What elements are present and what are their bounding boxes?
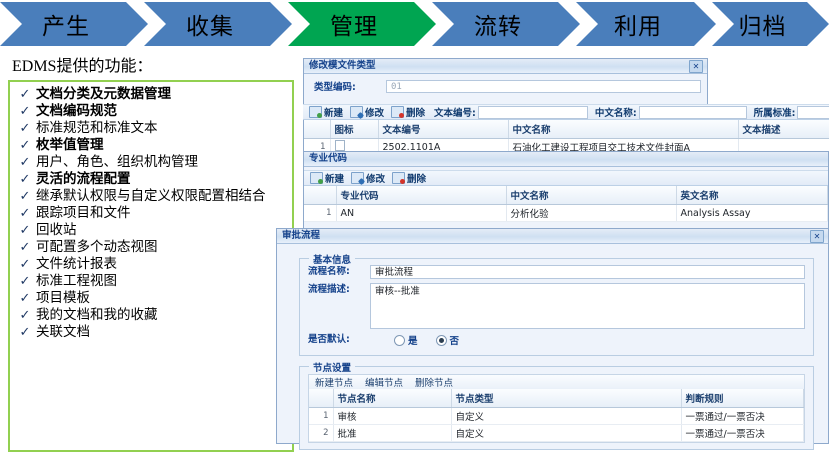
new-button[interactable]: 新建 <box>308 171 346 185</box>
col-en-name[interactable]: 英文名称 <box>676 186 828 205</box>
check-icon: ✓ <box>14 240 36 255</box>
check-icon: ✓ <box>14 189 36 204</box>
filter-cn-name-label: 中文名称: <box>595 105 637 119</box>
list-item: ✓ 关联文档 <box>14 325 288 340</box>
chevron-step-3[interactable]: 管理 <box>288 2 436 46</box>
cell-node-name: 批准 <box>333 425 451 442</box>
chevron-step-6[interactable]: 归档 <box>712 2 829 46</box>
delete-button[interactable]: 删除 <box>389 105 427 119</box>
list-item: ✓ 继承默认权限与自定义权限配置相结合 <box>14 189 288 204</box>
list-item-label: 可配置多个动态视图 <box>36 240 158 255</box>
type-code-row: 类型编码: 01 <box>304 74 707 97</box>
basic-info-fieldset: 基本信息 流程名称: 审批流程 流程描述: 审核--批准 是否默认: 是 <box>299 258 814 356</box>
list-item-label: 标准工程视图 <box>36 274 117 289</box>
list-item-label: 用户、角色、组织机构管理 <box>36 155 198 170</box>
close-icon[interactable]: ✕ <box>810 230 824 243</box>
edit-icon <box>350 106 363 118</box>
check-icon: ✓ <box>14 223 36 238</box>
list-item: ✓ 文件统计报表 <box>14 257 288 272</box>
chevron-step-2[interactable]: 收集 <box>144 2 292 46</box>
node-settings-fieldset: 节点设置 新建节点 编辑节点 删除节点 节点名称 节点类型 判断规则 <box>299 366 814 450</box>
delete-button-label: 删除 <box>406 105 425 119</box>
chevron-step-6-label: 归档 <box>739 7 787 41</box>
node-toolbar: 新建节点 编辑节点 删除节点 <box>308 374 805 389</box>
cell-node-rule: 一票通过/一票否决 <box>681 408 804 425</box>
features-panel: EDMS提供的功能： ✓ 文档分类及元数据管理 ✓ 文档编码规范 ✓ 标准规范和… <box>8 52 294 452</box>
major-code-toolbar: 新建 修改 删除 <box>304 170 828 186</box>
table-row[interactable]: 2 批准 自定义 一票通过/一票否决 <box>309 425 804 442</box>
check-icon: ✓ <box>14 274 36 289</box>
dialog-major-code-body: 新建 修改 删除 专业代码 中文名称 英文名称 <box>304 170 828 222</box>
node-settings-legend: 节点设置 <box>309 360 355 374</box>
list-item-label: 回收站 <box>36 223 77 238</box>
dialog-approval-title: 审批流程 <box>277 229 320 243</box>
type-code-input[interactable]: 01 <box>386 80 701 93</box>
node-grid: 节点名称 节点类型 判断规则 1 审核 自定义 一票通过/一票否决 2 <box>308 389 805 443</box>
chevron-step-1-label: 产生 <box>42 7 90 41</box>
flow-desc-textarea[interactable]: 审核--批准 <box>370 283 805 329</box>
node-table: 节点名称 节点类型 判断规则 1 审核 自定义 一票通过/一票否决 2 <box>309 389 804 442</box>
check-icon: ✓ <box>14 325 36 340</box>
close-icon[interactable]: ✕ <box>689 60 703 73</box>
radio-no-dot <box>436 335 447 346</box>
col-desc[interactable]: 文本描述 <box>738 120 829 139</box>
list-item: ✓ 标准规范和标准文本 <box>14 121 288 136</box>
edit-button[interactable]: 修改 <box>349 171 387 185</box>
col-rownum[interactable] <box>304 120 330 139</box>
dialog-approval-body: 基本信息 流程名称: 审批流程 流程描述: 审核--批准 是否默认: 是 <box>277 244 828 450</box>
col-major-code[interactable]: 专业代码 <box>336 186 506 205</box>
filter-cn-name-input[interactable] <box>639 106 747 119</box>
new-icon <box>310 172 323 184</box>
flow-name-label: 流程名称: <box>308 265 370 279</box>
filter-standard: 所属标准: <box>754 105 829 119</box>
chevron-step-5[interactable]: 利用 <box>576 2 716 46</box>
table-row[interactable]: 1 审核 自定义 一票通过/一票否决 <box>309 408 804 425</box>
filter-doc-code-input[interactable] <box>478 106 588 119</box>
radio-no[interactable]: 否 <box>436 333 460 347</box>
radio-yes[interactable]: 是 <box>394 333 418 347</box>
cell-node-type: 自定义 <box>451 425 681 442</box>
list-item: ✓ 文档编码规范 <box>14 104 288 119</box>
row-number: 1 <box>309 408 333 425</box>
table-header-row: 图标 文本编号 中文名称 文本描述 <box>304 120 829 139</box>
check-icon: ✓ <box>14 257 36 272</box>
list-item-label: 文件统计报表 <box>36 257 117 272</box>
new-button[interactable]: 新建 <box>307 105 345 119</box>
list-item: ✓ 枚举值管理 <box>14 138 288 153</box>
col-node-rule[interactable]: 判断规则 <box>681 389 804 408</box>
list-item: ✓ 跟踪项目和文件 <box>14 206 288 221</box>
edit-button[interactable]: 修改 <box>348 105 386 119</box>
check-icon: ✓ <box>14 308 36 323</box>
edit-button-label: 修改 <box>366 171 385 185</box>
list-item: ✓ 我的文档和我的收藏 <box>14 308 288 323</box>
features-list: ✓ 文档分类及元数据管理 ✓ 文档编码规范 ✓ 标准规范和标准文本 ✓ 枚举值管… <box>8 80 294 452</box>
col-node-name[interactable]: 节点名称 <box>333 389 451 408</box>
dialog-file-type-body: 类型编码: 01 <box>304 74 707 97</box>
list-item-label: 文档编码规范 <box>36 104 117 119</box>
dialog-file-type-titlebar[interactable]: 修改模文件类型 ✕ <box>304 59 707 74</box>
col-icon[interactable]: 图标 <box>330 120 378 139</box>
list-item: ✓ 标准工程视图 <box>14 274 288 289</box>
col-rownum[interactable] <box>304 186 336 205</box>
major-code-table: 专业代码 中文名称 英文名称 1 AN 分析化验 Analysis Assay <box>304 186 828 222</box>
chevron-step-4-label: 流转 <box>474 7 522 41</box>
list-item-label: 关联文档 <box>36 325 90 340</box>
is-default-label: 是否默认: <box>308 333 370 347</box>
col-cn-name[interactable]: 中文名称 <box>508 120 738 139</box>
delete-icon <box>391 106 404 118</box>
file-type-grid: 图标 文本编号 中文名称 文本描述 1 2502.1101A 石油化工建设工程项… <box>303 120 829 155</box>
flow-desc-row: 流程描述: 审核--批准 <box>308 283 805 329</box>
dialog-file-type-title: 修改模文件类型 <box>304 59 376 73</box>
filter-cn-name: 中文名称: <box>595 105 747 119</box>
table-header-row: 专业代码 中文名称 英文名称 <box>304 186 828 205</box>
file-type-toolbar-strip: 新建 修改 删除 文本编号: 中文名称: 所属标准: <box>303 104 829 120</box>
list-item-label: 灵活的流程配置 <box>36 172 131 187</box>
check-icon: ✓ <box>14 104 36 119</box>
filter-standard-input[interactable] <box>797 106 829 119</box>
delete-icon <box>392 172 405 184</box>
chevron-step-3-label: 管理 <box>330 7 378 41</box>
check-icon: ✓ <box>14 155 36 170</box>
check-icon: ✓ <box>14 138 36 153</box>
dialog-major-code-titlebar[interactable]: 专业代码 <box>304 152 828 167</box>
row-number: 1 <box>304 205 336 222</box>
check-icon: ✓ <box>14 121 36 136</box>
list-item-label: 跟踪项目和文件 <box>36 206 131 221</box>
cell-en-name: Analysis Assay <box>676 205 828 222</box>
list-item: ✓ 回收站 <box>14 223 288 238</box>
process-chevron-banner: 产生 收集 管理 流转 利用 归档 <box>0 2 829 46</box>
radio-yes-dot <box>394 335 405 346</box>
new-button-label: 新建 <box>324 105 343 119</box>
col-cn-name[interactable]: 中文名称 <box>506 186 676 205</box>
new-button-label: 新建 <box>325 171 344 185</box>
list-item: ✓ 文档分类及元数据管理 <box>14 87 288 102</box>
list-item-label: 文档分类及元数据管理 <box>36 87 171 102</box>
chevron-step-2-label: 收集 <box>186 7 234 41</box>
chevron-step-5-label: 利用 <box>614 7 662 41</box>
check-icon: ✓ <box>14 87 36 102</box>
table-row[interactable]: 1 AN 分析化验 Analysis Assay <box>304 205 828 222</box>
row-number: 2 <box>309 425 333 442</box>
edit-node-button[interactable]: 编辑节点 <box>365 375 403 389</box>
list-item-label: 项目模板 <box>36 291 90 306</box>
features-heading: EDMS提供的功能： <box>12 52 294 76</box>
delete-node-button[interactable]: 删除节点 <box>415 375 453 389</box>
list-item-label: 枚举值管理 <box>36 138 104 153</box>
list-item: ✓ 可配置多个动态视图 <box>14 240 288 255</box>
col-rownum[interactable] <box>309 389 333 408</box>
chevron-step-1[interactable]: 产生 <box>0 2 148 46</box>
flow-name-input[interactable]: 审批流程 <box>370 265 805 279</box>
cell-node-type: 自定义 <box>451 408 681 425</box>
dialog-approval-titlebar[interactable]: 审批流程 ✕ <box>277 229 828 244</box>
is-default-row: 是否默认: 是 否 <box>308 333 805 347</box>
col-node-type[interactable]: 节点类型 <box>451 389 681 408</box>
dialog-approval-flow[interactable]: 审批流程 ✕ 基本信息 流程名称: 审批流程 流程描述: 审核--批准 是否默认… <box>276 228 829 444</box>
edit-button-label: 修改 <box>365 105 384 119</box>
is-default-radio-group: 是 否 <box>370 333 473 347</box>
list-item: ✓ 项目模板 <box>14 291 288 306</box>
check-icon: ✓ <box>14 206 36 221</box>
radio-no-label: 否 <box>450 333 460 347</box>
list-item: ✓ 用户、角色、组织机构管理 <box>14 155 288 170</box>
chevron-step-4[interactable]: 流转 <box>432 2 580 46</box>
check-icon: ✓ <box>14 291 36 306</box>
list-item-label: 标准规范和标准文本 <box>36 121 158 136</box>
flow-desc-label: 流程描述: <box>308 283 370 297</box>
type-code-label: 类型编码: <box>314 79 386 93</box>
screenshot-root: 产生 收集 管理 流转 利用 归档 EDMS提供的功能： ✓ 文档分类及元数据管… <box>0 0 829 444</box>
edit-icon <box>351 172 364 184</box>
new-icon <box>309 106 322 118</box>
list-item-label: 继承默认权限与自定义权限配置相结合 <box>36 189 266 204</box>
cell-cn-name: 分析化验 <box>506 205 676 222</box>
cell-major-code: AN <box>336 205 506 222</box>
radio-yes-label: 是 <box>408 333 418 347</box>
cell-node-name: 审核 <box>333 408 451 425</box>
filter-doc-code-label: 文本编号: <box>434 105 476 119</box>
list-item-label: 我的文档和我的收藏 <box>36 308 158 323</box>
filter-standard-label: 所属标准: <box>754 105 796 119</box>
table-header-row: 节点名称 节点类型 判断规则 <box>309 389 804 408</box>
col-doc-code[interactable]: 文本编号 <box>378 120 508 139</box>
filter-doc-code: 文本编号: <box>434 105 588 119</box>
cell-node-rule: 一票通过/一票否决 <box>681 425 804 442</box>
file-type-table: 图标 文本编号 中文名称 文本描述 1 2502.1101A 石油化工建设工程项… <box>304 120 829 155</box>
new-node-button[interactable]: 新建节点 <box>315 375 353 389</box>
dialog-major-code-title: 专业代码 <box>304 152 347 166</box>
list-item: ✓ 灵活的流程配置 <box>14 172 288 187</box>
flow-name-row: 流程名称: 审批流程 <box>308 265 805 279</box>
basic-info-legend: 基本信息 <box>309 252 355 266</box>
delete-button[interactable]: 删除 <box>390 171 428 185</box>
delete-button-label: 删除 <box>407 171 426 185</box>
check-icon: ✓ <box>14 172 36 187</box>
